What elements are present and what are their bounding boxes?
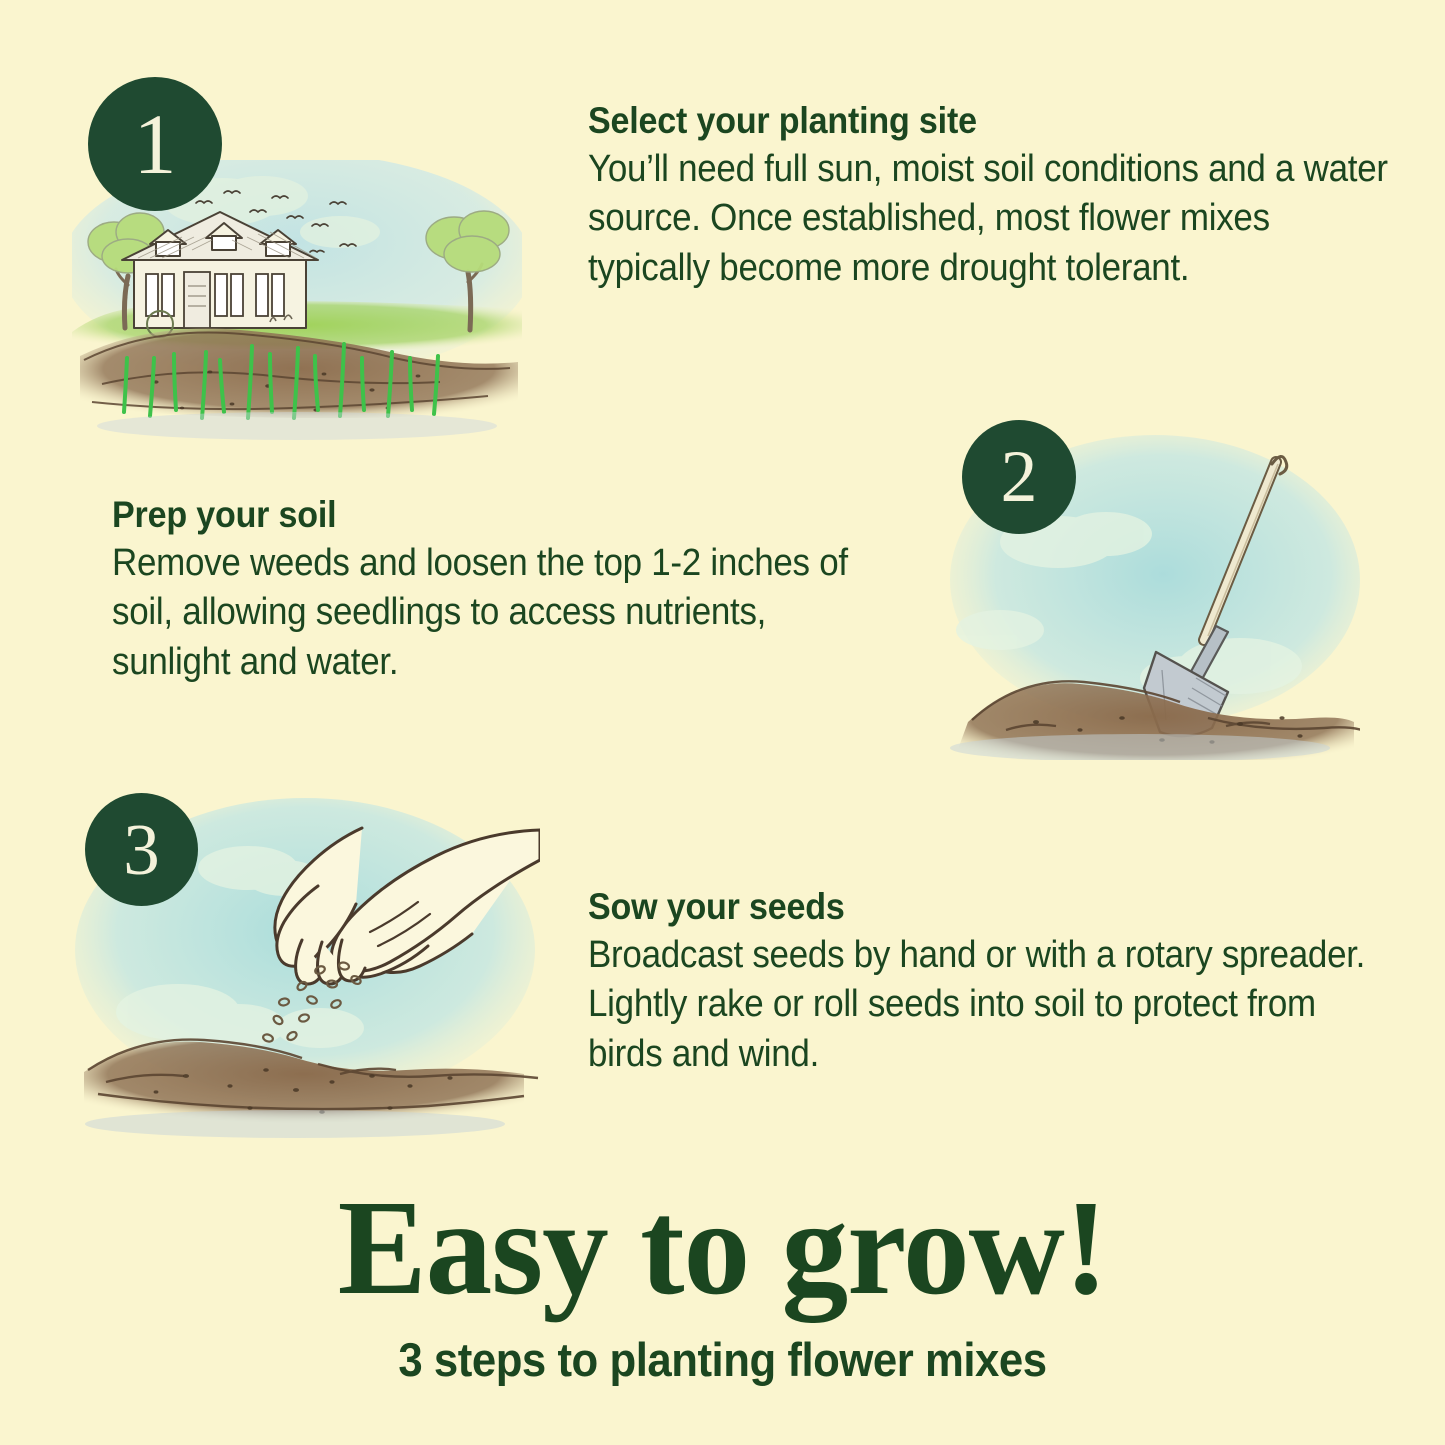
step-2-text-block: Prep your soil Remove weeds and loosen t… [112,494,942,687]
step-3-text-block: Sow your seeds Broadcast seeds by hand o… [588,886,1445,1079]
step-2-body: Remove weeds and loosen the top 1-2 inch… [112,539,876,687]
step-1-title: Select your planting site [588,100,1398,143]
step-2-number-badge: 2 [962,420,1076,534]
step-3-body: Broadcast seeds by hand or with a rotary… [588,931,1398,1079]
infographic-poster: 1 2 3 Select your planting site You’ll n… [0,0,1445,1445]
step-1-body: You’ll need full sun, moist soil conditi… [588,145,1398,293]
step-number-label: 1 [134,101,177,187]
step-3-title: Sow your seeds [588,886,1398,929]
footer-subhead: 3 steps to planting flower mixes [51,1334,1395,1386]
step-2-title: Prep your soil [112,494,876,537]
footer-block: Easy to grow! 3 steps to planting flower… [0,1180,1445,1386]
step-1-number-badge: 1 [88,77,222,211]
step-number-label: 3 [123,813,160,886]
step-number-label: 2 [1001,440,1038,514]
step-3-number-badge: 3 [85,793,198,906]
step-1-text-block: Select your planting site You’ll need fu… [588,100,1445,293]
footer-headline: Easy to grow! [14,1180,1430,1316]
